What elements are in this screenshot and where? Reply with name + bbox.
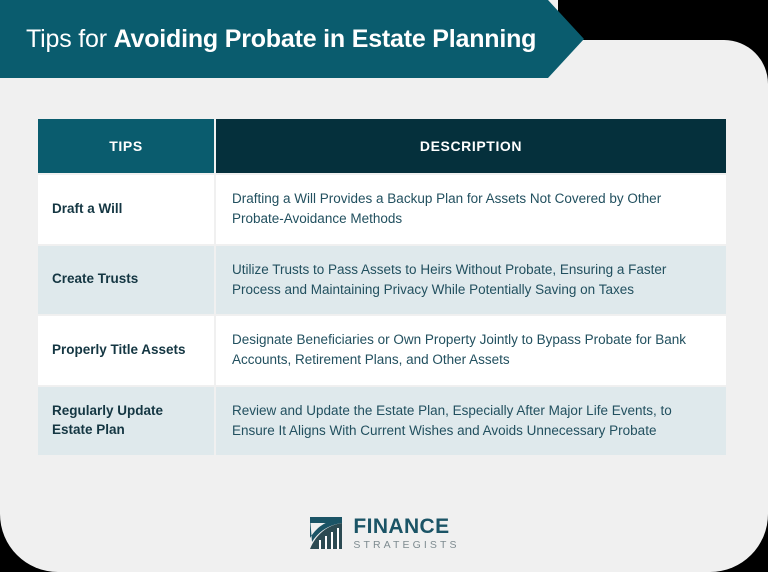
- finance-strategists-logo-icon: [308, 516, 344, 550]
- tip-description: Utilize Trusts to Pass Assets to Heirs W…: [216, 246, 726, 315]
- table-header: TIPS DESCRIPTION: [38, 119, 726, 173]
- column-header-description: DESCRIPTION: [216, 119, 726, 173]
- infographic-card: Tips for Avoiding Probate in Estate Plan…: [0, 0, 768, 572]
- table-body: Draft a Will Drafting a Will Provides a …: [38, 175, 726, 455]
- tips-table-wrapper: TIPS DESCRIPTION Draft a Will Drafting a…: [36, 117, 728, 457]
- table-row: Regularly Update Estate Plan Review and …: [38, 387, 726, 456]
- tip-label: Create Trusts: [38, 246, 214, 315]
- column-header-tips: TIPS: [38, 119, 214, 173]
- table-row: Properly Title Assets Designate Benefici…: [38, 316, 726, 385]
- page-title-strong: Avoiding Probate in Estate Planning: [114, 25, 537, 53]
- logo-primary-text: FINANCE: [353, 516, 459, 537]
- tips-table: TIPS DESCRIPTION Draft a Will Drafting a…: [36, 117, 728, 457]
- brand-logo: FINANCE STRATEGISTS: [0, 516, 768, 551]
- tip-label: Draft a Will: [38, 175, 214, 244]
- tip-label: Properly Title Assets: [38, 316, 214, 385]
- page-title: Tips for Avoiding Probate in Estate Plan…: [0, 24, 536, 54]
- table-row: Create Trusts Utilize Trusts to Pass Ass…: [38, 246, 726, 315]
- tip-description: Drafting a Will Provides a Backup Plan f…: [216, 175, 726, 244]
- page-title-lead: Tips for: [26, 25, 114, 53]
- table-header-row: TIPS DESCRIPTION: [38, 119, 726, 173]
- table-row: Draft a Will Drafting a Will Provides a …: [38, 175, 726, 244]
- logo-wordmark: FINANCE STRATEGISTS: [353, 516, 459, 551]
- logo-secondary-text: STRATEGISTS: [353, 540, 459, 551]
- tip-label: Regularly Update Estate Plan: [38, 387, 214, 456]
- tip-description: Review and Update the Estate Plan, Espec…: [216, 387, 726, 456]
- card-corner-round-top-right: [558, 40, 768, 100]
- tip-description: Designate Beneficiaries or Own Property …: [216, 316, 726, 385]
- card-corner-mask-top: [558, 0, 768, 40]
- header-banner: Tips for Avoiding Probate in Estate Plan…: [0, 0, 584, 78]
